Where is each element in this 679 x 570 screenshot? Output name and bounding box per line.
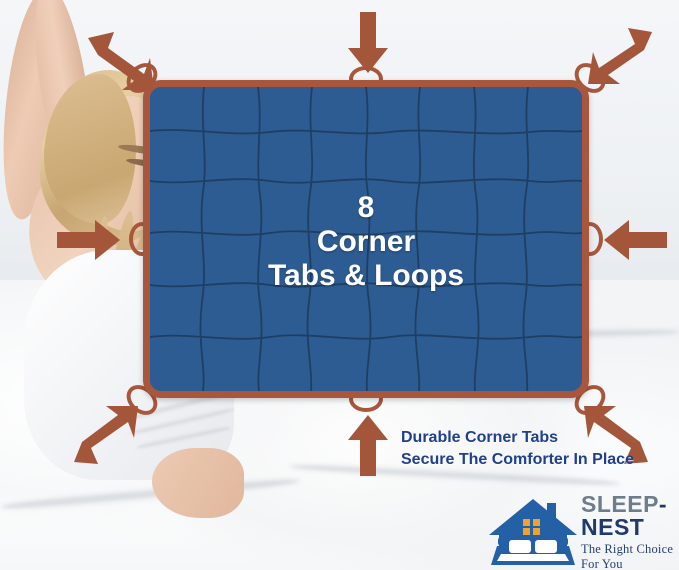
brand-logo: SLEEP-NEST The Right Choice For You [487,497,677,567]
arrow-right-middle [603,219,667,261]
arrow-bottom-center [347,414,389,476]
arrow-top-left [84,28,156,98]
comforter-illustration: 8 Corner Tabs & Loops [143,80,589,398]
leg [152,448,244,518]
product-image: 8 Corner Tabs & Loops [0,0,679,570]
arrow-top-center [347,12,389,74]
caption-line-1: Durable Corner Tabs [401,427,634,449]
logo-text: SLEEP-NEST The Right Choice For You [581,493,677,570]
blue-quilted-comforter: 8 Corner Tabs & Loops [143,80,589,398]
caption: Durable Corner Tabs Secure The Comforter… [401,427,634,470]
caption-line-2: Secure The Comforter In Place [401,449,634,471]
logo-tagline: The Right Choice For You [581,542,677,570]
arrow-left-middle [57,219,121,261]
house-with-bed-icon [487,497,579,567]
logo-wordmark: SLEEP-NEST [581,493,677,539]
arrow-top-right [586,26,656,92]
quilt-stitch-pattern [150,87,582,391]
arrow-bottom-left [68,398,140,466]
